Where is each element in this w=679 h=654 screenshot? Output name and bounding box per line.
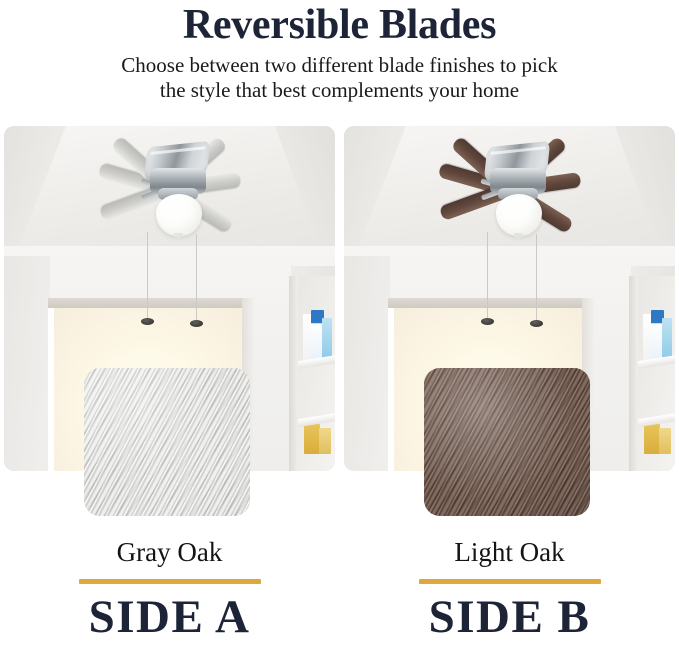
ceiling-fan-icon [440, 136, 590, 236]
page-subtitle: Choose between two different blade finis… [0, 53, 679, 103]
fan-pull-chain [536, 234, 537, 321]
pull-chain-finial [190, 320, 203, 327]
finish-caption-side-a: Gray Oak SIDE A [4, 536, 335, 643]
side-label: SIDE A [4, 591, 335, 643]
book [322, 318, 332, 360]
subtitle-line-2: the style that best complements your hom… [160, 78, 519, 102]
page-title: Reversible Blades [0, 2, 679, 48]
book [644, 424, 660, 454]
fan-pull-chain [487, 232, 488, 319]
header: Reversible Blades Choose between two dif… [0, 0, 679, 103]
fan-light-dome [496, 194, 542, 236]
bookshelf [289, 276, 335, 471]
fan-light-finial [514, 233, 523, 238]
finish-caption-side-b: Light Oak SIDE B [344, 536, 675, 643]
finish-option-side-a[interactable]: Gray Oak SIDE A [4, 126, 335, 654]
window-valance-bar [48, 298, 248, 308]
finish-name-label: Light Oak [344, 536, 675, 568]
ceiling-fan-icon [100, 136, 250, 236]
fan-light-dome [156, 194, 202, 236]
blade-finish-comparison: Gray Oak SIDE A [0, 126, 679, 654]
book [659, 428, 671, 454]
fan-light-finial [174, 233, 183, 238]
bookshelf-post [629, 276, 638, 471]
window-valance-bar [388, 298, 588, 308]
swatch-sheen [84, 368, 250, 516]
pull-chain-finial [530, 320, 543, 327]
side-wall-left [344, 256, 390, 471]
finish-option-side-b[interactable]: Light Oak SIDE B [344, 126, 675, 654]
fan-pull-chain [196, 234, 197, 321]
pull-chain-finial [481, 318, 494, 325]
book [304, 424, 320, 454]
swatch-sheen [424, 368, 590, 516]
book [662, 318, 672, 360]
book [319, 428, 331, 454]
accent-divider [419, 579, 601, 584]
bookshelf-post [289, 276, 298, 471]
pull-chain-finial [141, 318, 154, 325]
finish-swatch-light-oak [424, 368, 590, 516]
finish-name-label: Gray Oak [4, 536, 335, 568]
subtitle-line-1: Choose between two different blade finis… [121, 53, 557, 77]
side-label: SIDE B [344, 591, 675, 643]
side-wall-left [4, 256, 50, 471]
finish-swatch-gray-oak [84, 368, 250, 516]
bookshelf [629, 276, 675, 471]
accent-divider [79, 579, 261, 584]
fan-pull-chain [147, 232, 148, 319]
